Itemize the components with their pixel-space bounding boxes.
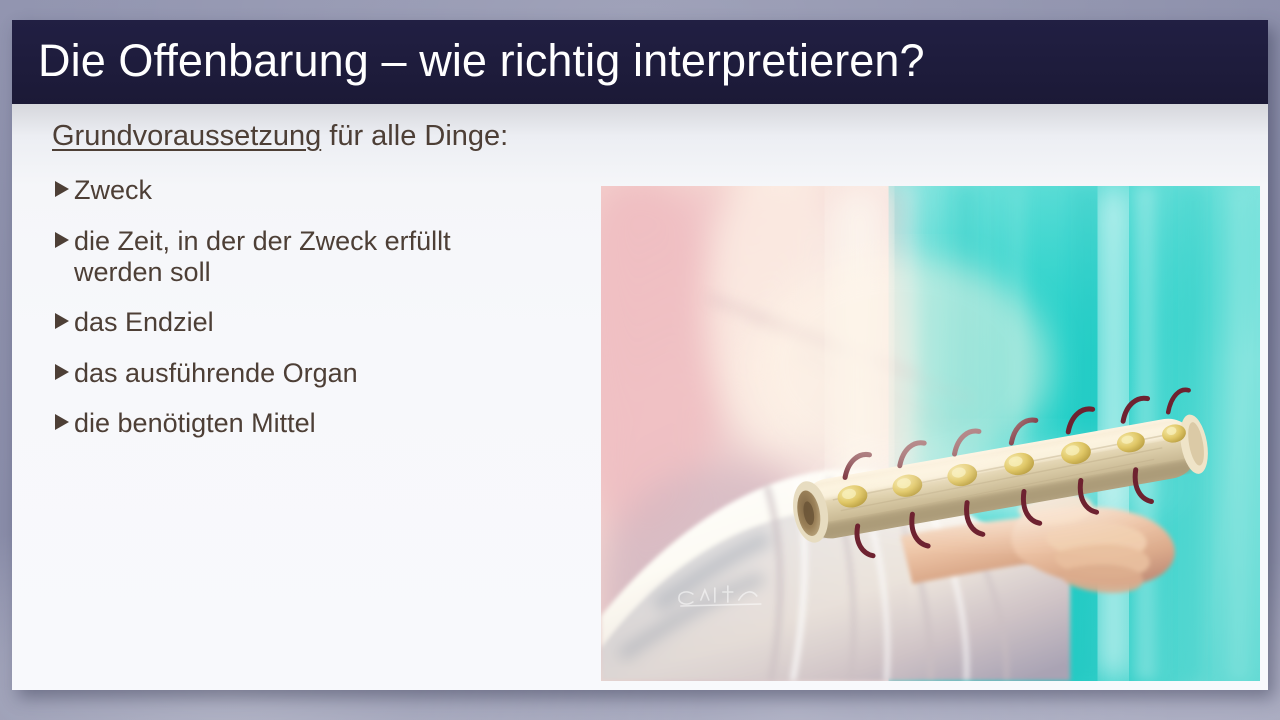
bullet-content-column: Grundvoraussetzung für alle Dinge: Zweck… xyxy=(52,120,572,458)
list-item: die Zeit, in der der Zweck erfüllt werde… xyxy=(52,226,572,289)
list-item-label: die Zeit, in der der Zweck erfüllt werde… xyxy=(74,226,494,289)
page-title: Die Offenbarung – wie richtig interpreti… xyxy=(38,35,925,87)
list-item-label: das ausführende Organ xyxy=(74,358,494,389)
triangle-right-icon xyxy=(52,230,73,250)
list-item-label: das Endziel xyxy=(74,307,494,338)
lead-line-underlined: Grundvoraussetzung xyxy=(52,120,321,152)
triangle-right-icon xyxy=(52,311,73,331)
hand-holding-sealed-scroll-illustration xyxy=(601,186,1260,681)
triangle-right-icon xyxy=(52,412,73,432)
presentation-slide: Die Offenbarung – wie richtig interpreti… xyxy=(12,20,1268,690)
triangle-right-icon xyxy=(52,362,73,382)
triangle-right-icon xyxy=(52,179,73,199)
slide-title-band: Die Offenbarung – wie richtig interpreti… xyxy=(12,20,1268,104)
list-item: das Endziel xyxy=(52,307,572,338)
list-item-label: die benötigten Mittel xyxy=(74,408,494,439)
list-item: Zweck xyxy=(52,175,572,206)
list-item: das ausführende Organ xyxy=(52,358,572,389)
lead-line-rest: für alle Dinge: xyxy=(321,120,508,152)
list-item-label: Zweck xyxy=(74,175,494,206)
lead-line: Grundvoraussetzung für alle Dinge: xyxy=(52,120,572,153)
list-item: die benötigten Mittel xyxy=(52,408,572,439)
